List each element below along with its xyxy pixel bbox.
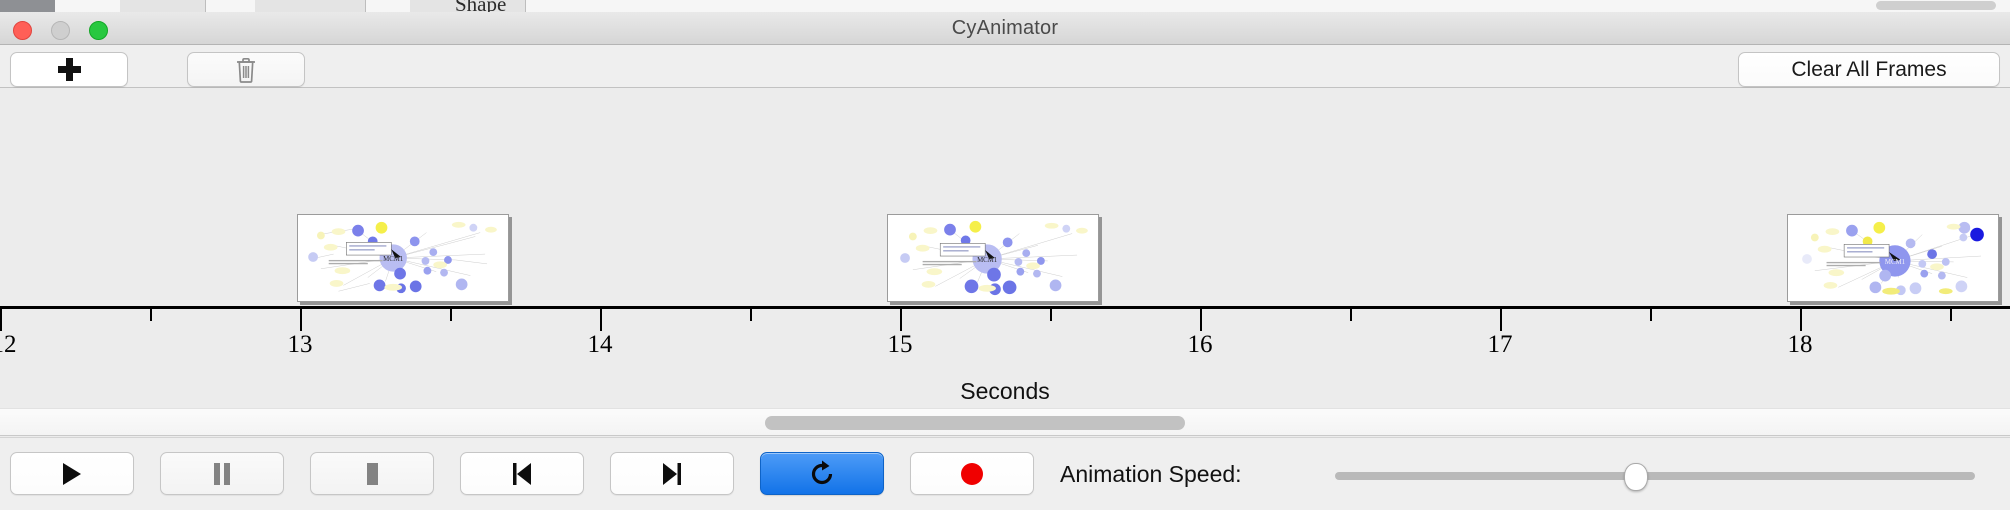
play-button[interactable] [10,452,134,495]
clear-all-frames-button[interactable]: Clear All Frames [1738,52,2000,87]
skip-start-button[interactable] [460,452,584,495]
timeline-frame-thumbnail[interactable]: MCM1 [887,214,1099,302]
record-icon [959,461,985,487]
background-window-dark-chip [0,0,55,12]
axis-tick-major [1800,309,1802,331]
axis-tick-major [1500,309,1502,331]
skip-end-button[interactable] [610,452,734,495]
background-window-chip [255,0,366,12]
play-icon [59,460,85,488]
trash-icon [235,57,257,83]
axis-tick-minor [1650,309,1652,321]
pause-icon [210,460,234,488]
svg-text:MCM1: MCM1 [1885,259,1905,266]
axis-tick-label: 13 [288,331,313,359]
animation-speed-slider-thumb[interactable] [1624,463,1648,491]
add-frame-button[interactable] [10,52,128,87]
axis-tick-minor [1950,309,1952,321]
timeline-panel[interactable]: MCM1 [0,88,2010,408]
axis-tick-major [0,309,2,331]
page-title: CyAnimator [0,12,2010,45]
plus-icon [58,58,81,81]
axis-tick-major [1200,309,1202,331]
clear-all-frames-label: Clear All Frames [1791,58,1946,82]
background-window-scrollbar[interactable] [1876,1,1996,10]
timeline-scrollbar[interactable] [0,408,2010,436]
timeline-scrollbar-thumb[interactable] [765,416,1185,430]
animation-speed-label: Animation Speed: [1060,461,1242,488]
record-button[interactable] [910,452,1034,495]
axis-tick-label: 16 [1188,331,1213,359]
background-window-chip [120,0,206,12]
pause-button[interactable] [160,452,284,495]
axis-tick-label: 17 [1488,331,1513,359]
axis-tick-minor [1350,309,1352,321]
animation-speed-slider[interactable] [1335,472,1975,480]
cyanimator-window: Shape CyAnimator Clear All Frames [0,0,2010,510]
loop-button[interactable] [760,452,884,495]
stop-icon [360,460,384,488]
axis-tick-label: 15 [888,331,913,359]
skip-forward-icon [659,460,685,488]
title-bar: CyAnimator [0,12,2010,45]
network-thumbnail-graphic: MCM1 [298,215,508,301]
timeline-frame-thumbnail[interactable]: MCM1 [1787,214,1999,302]
axis-tick-minor [450,309,452,321]
timeline-frame-thumbnail[interactable]: MCM1 [297,214,509,302]
skip-back-icon [509,460,535,488]
axis-tick-major [300,309,302,331]
axis-tick-label: 18 [1788,331,1813,359]
axis-caption: Seconds [0,378,2010,405]
axis-tick-major [900,309,902,331]
axis-tick-minor [150,309,152,321]
playback-bar: Animation Speed: [0,437,2010,510]
network-thumbnail-graphic: MCM1 [1788,215,1998,301]
loop-icon [808,459,836,489]
axis-tick-minor [1050,309,1052,321]
svg-text:MCM1: MCM1 [383,256,403,263]
axis-tick-label: 12 [0,331,17,359]
axis-tick-label: 14 [588,331,613,359]
axis-tick-minor [750,309,752,321]
stop-button[interactable] [310,452,434,495]
axis-tick-major [600,309,602,331]
svg-text:MCM1: MCM1 [977,257,997,264]
network-thumbnail-graphic: MCM1 [888,215,1098,301]
toolbar: Clear All Frames [0,45,2010,88]
delete-frame-button[interactable] [187,52,305,87]
